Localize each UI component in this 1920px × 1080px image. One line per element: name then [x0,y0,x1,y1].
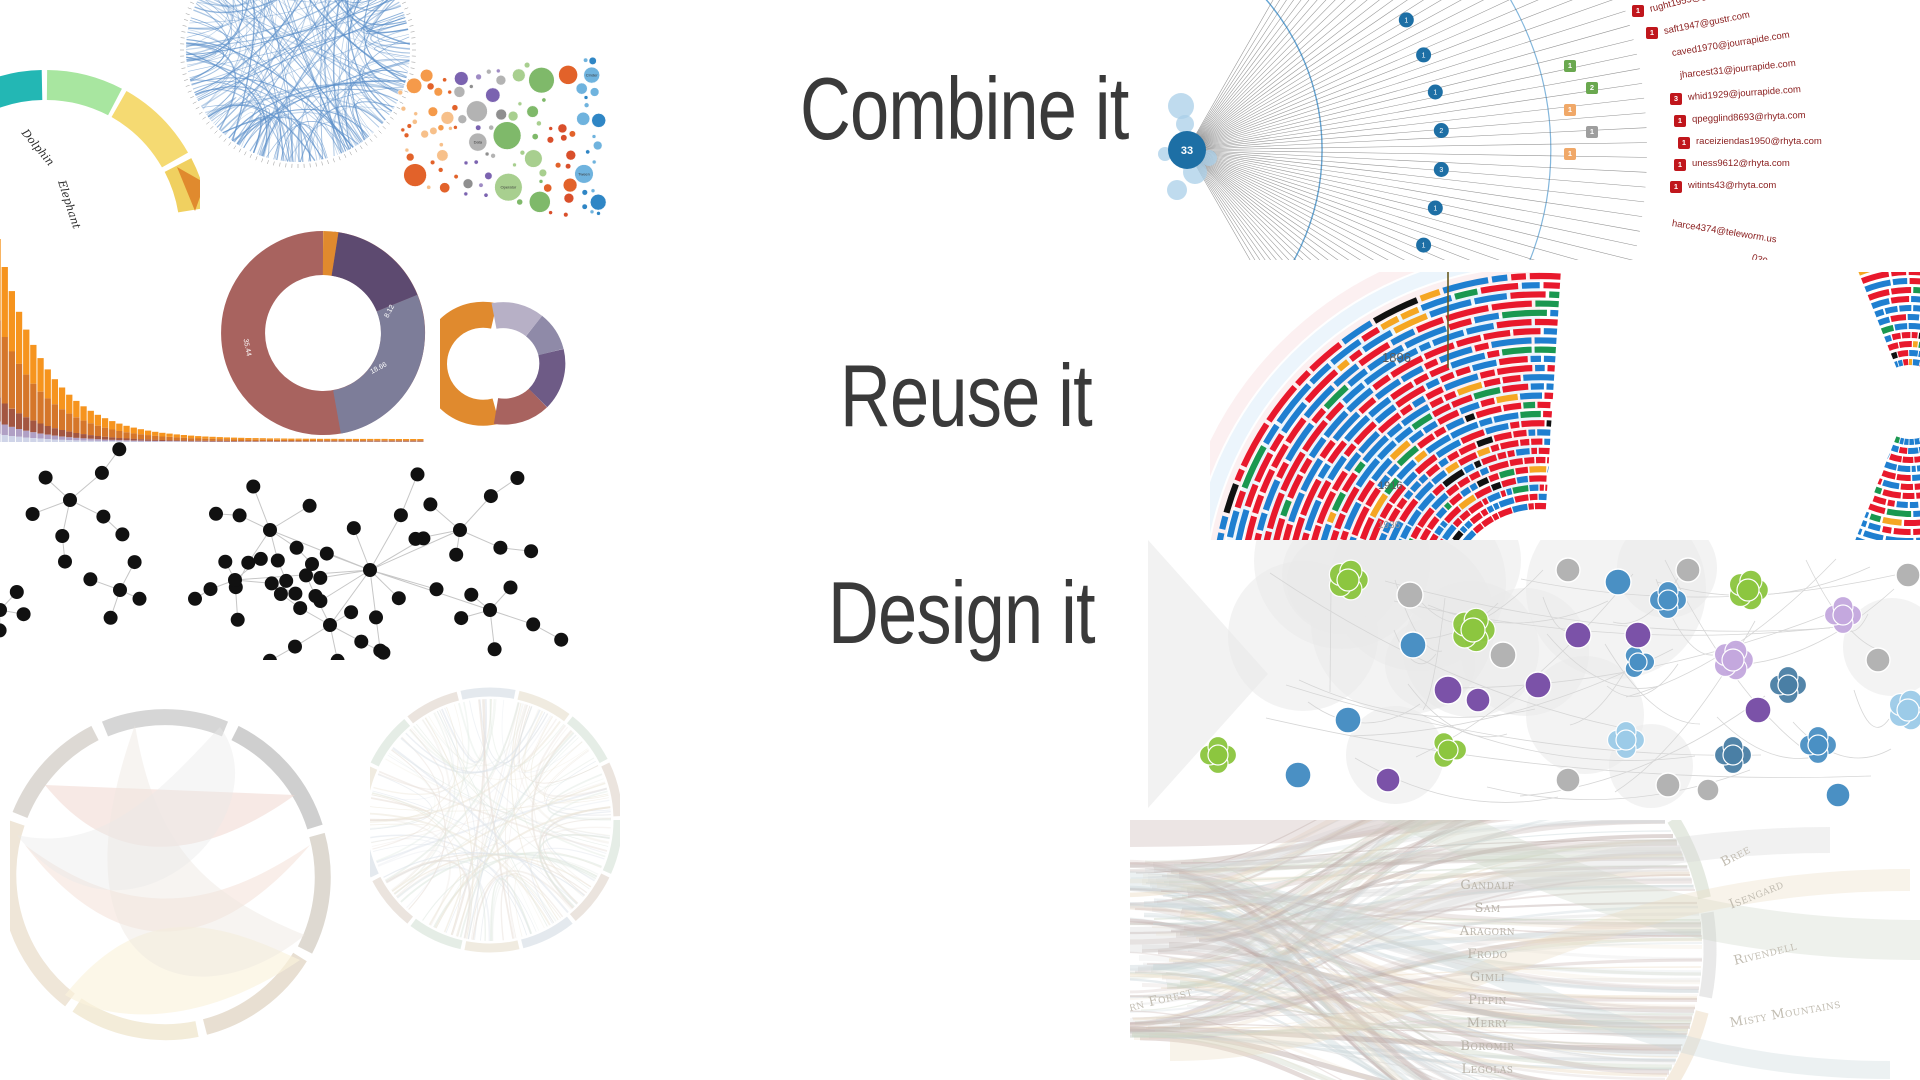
svg-text:33: 33 [1181,145,1193,157]
year-label-1936: 1936 [1378,520,1400,531]
headline-design-it: Design it [828,562,1095,664]
headline-combine-it: Combine it [800,58,1129,160]
year-label-1916: 1916 [1378,480,1402,492]
lotr-character-label: Legolas [1430,1062,1545,1077]
hub-email-badge: 1 [1646,27,1658,39]
svg-text:3: 3 [1439,167,1443,174]
svg-text:1: 1 [1404,18,1408,25]
radial-timeline-svg [1210,272,1920,540]
hub-email-label: witints43@rhyta.com [1688,180,1776,191]
lotr-character-place-flow: GandalfSamAragornFrodoGimliPippinMerryBo… [1130,820,1920,1080]
hub-side-badge: 1 [1586,126,1598,138]
hub-email-badge: 3 [1670,93,1682,105]
hub-email-badge: 1 [1674,159,1686,171]
hub-email-badge: 1 [1632,5,1644,17]
hub-email-label: uness9612@rhyta.com [1692,158,1790,169]
lotr-character-label: Merry [1430,1016,1545,1031]
svg-text:1: 1 [1433,90,1437,97]
lotr-character-label: Boromir [1430,1039,1545,1054]
hub-email-badge: 1 [1674,115,1686,127]
lotr-character-label: Pippin [1430,993,1545,1008]
hub-side-badge: 1 [1564,60,1576,72]
chord-b-svg [370,670,620,970]
circle-packing-bubbles: DataOperatorTweenCinder [392,48,607,226]
hierarchical-edge-bundling [168,0,428,180]
hub-side-badge: 1 [1564,104,1576,116]
large-donut-svg [218,228,428,438]
svg-text:Data: Data [474,140,483,145]
lotr-character-label: Frodo [1430,947,1545,962]
chord-a-svg [10,660,340,1080]
svg-text:1: 1 [1433,206,1437,213]
svg-text:1: 1 [1422,53,1426,60]
headline-reuse-it: Reuse it [840,345,1092,447]
small-donut-svg [440,300,568,428]
lotr-character-label: Aragorn [1430,924,1545,939]
svg-text:Tween: Tween [578,171,590,176]
node-link-tree-diagram [0,440,590,660]
hub-side-badge: 2 [1586,82,1598,94]
radial-hub-svg: 33111111112311111111 [1152,0,1920,260]
year-label-1896: 1896 [1382,350,1411,365]
lotr-character-label: Gandalf [1430,878,1545,893]
small-donut-chart [440,300,568,428]
chord-diagram-faded-left-small [370,670,620,970]
large-donut-chart: 35.44 8.12 18.66 [218,228,428,438]
hub-email-badge: 1 [1670,181,1682,193]
edge-bundling-svg [168,0,428,180]
radial-election-timeline: 1896 1916 1936 [1210,272,1920,540]
lotr-character-label: Gimli [1430,970,1545,985]
svg-text:Cinder: Cinder [586,73,598,78]
hub-side-badge: 1 [1564,148,1576,160]
slide-canvas: Combine it Reuse it Design it Cheetah Do… [0,0,1920,1080]
lotr-character-label: Sam [1430,901,1545,916]
bubble-pack-svg: DataOperatorTweenCinder [392,48,607,226]
radial-hub-and-spoke-email-graph: 33111111112311111111 lardie...1rught1955… [1152,0,1920,260]
hub-email-badge: 1 [1678,137,1690,149]
svg-text:1: 1 [1422,243,1426,250]
svg-text:Operator: Operator [501,185,517,190]
force-directed-cluster-network [1148,540,1920,808]
node-link-svg [0,440,590,660]
svg-text:2: 2 [1439,128,1443,135]
force-network-svg [1148,540,1920,808]
hub-email-label: raceiziendas1950@rhyta.com [1696,136,1822,147]
chord-diagram-faded-left [10,660,340,1080]
